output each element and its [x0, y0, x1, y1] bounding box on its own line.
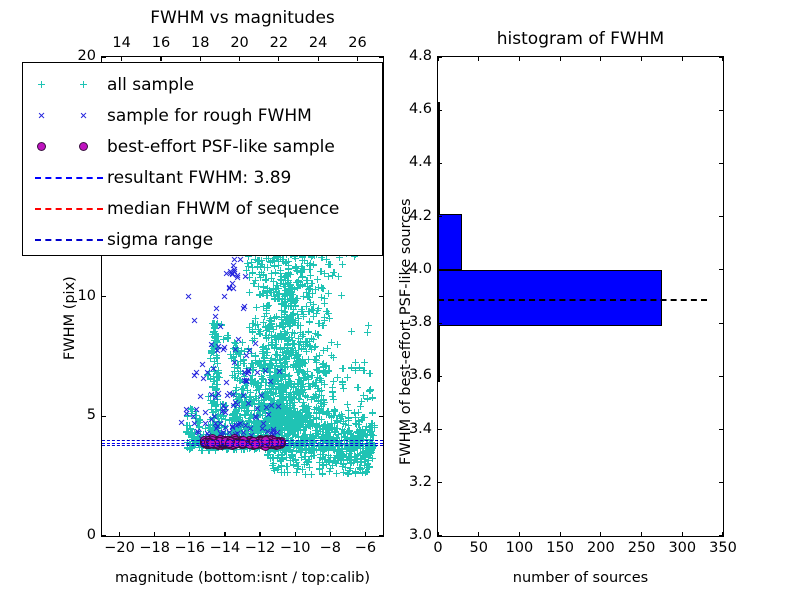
- right-ytick-right: [719, 323, 723, 324]
- right-ytick: [438, 323, 442, 324]
- right-ytick: [438, 163, 442, 164]
- legend-label: all sample: [107, 75, 194, 95]
- right-ytick-right: [719, 216, 723, 217]
- right-xtick-top: [641, 57, 642, 61]
- right-ytick: [438, 269, 442, 270]
- cross-marker-icon: [80, 112, 87, 119]
- right-ytick-right: [719, 269, 723, 270]
- right-yticklabel: 4.0: [0, 261, 432, 277]
- legend-marker: [31, 198, 107, 220]
- right-xtick-top: [600, 57, 601, 61]
- legend-item: best-effort PSF-like sample: [31, 131, 372, 162]
- cross-marker-icon: [38, 112, 45, 119]
- plus-marker-icon: [38, 81, 45, 88]
- legend-item: median FHWM of sequence: [31, 193, 372, 224]
- right-yticklabel: 3.4: [0, 421, 432, 437]
- legend-marker: [31, 105, 107, 127]
- legend-marker: [31, 74, 107, 96]
- right-ytick-right: [719, 482, 723, 483]
- legend-label: median FHWM of sequence: [107, 199, 339, 219]
- right-xtick-top: [519, 57, 520, 61]
- right-ytick-right: [719, 429, 723, 430]
- right-ytick-right: [719, 56, 723, 57]
- right-ytick-right: [719, 163, 723, 164]
- legend-marker: [31, 167, 107, 189]
- right-ytick: [438, 216, 442, 217]
- right-ytick: [438, 535, 442, 536]
- right-yticklabel: 3.6: [0, 367, 432, 383]
- dashed-line-icon: [35, 208, 103, 210]
- legend-item: resultant FWHM: 3.89: [31, 162, 372, 193]
- right-xtick: [600, 532, 601, 536]
- right-ytick: [438, 110, 442, 111]
- right-xtick: [519, 532, 520, 536]
- right-ytick: [438, 429, 442, 430]
- right-ytick: [438, 56, 442, 57]
- right-ytick-right: [719, 376, 723, 377]
- right-yticklabel: 3.8: [0, 314, 432, 330]
- right-xticklabel: 350: [693, 540, 753, 556]
- right-yticklabel: 3.0: [0, 527, 432, 543]
- dashed-line-icon: [35, 177, 103, 179]
- right-xtick-top: [722, 57, 723, 61]
- legend-item: sample for rough FWHM: [31, 100, 372, 131]
- legend-label: best-effort PSF-like sample: [107, 137, 335, 157]
- right-yticklabel: 3.2: [0, 474, 432, 490]
- legend-label: sample for rough FWHM: [107, 106, 312, 126]
- right-xtick-top: [437, 57, 438, 61]
- right-xtick-top: [560, 57, 561, 61]
- right-xtick: [641, 532, 642, 536]
- legend-marker: [31, 136, 107, 158]
- legend-marker: [31, 229, 107, 251]
- legend-label: sigma range: [107, 230, 213, 250]
- dashdot-line-icon: [35, 239, 103, 241]
- right-ytick-right: [719, 535, 723, 536]
- right-xtick: [682, 532, 683, 536]
- right-xtick: [478, 532, 479, 536]
- legend-label: resultant FWHM: 3.89: [107, 168, 291, 188]
- legend-item: sigma range: [31, 224, 372, 255]
- right-ytick: [438, 376, 442, 377]
- right-xtick-top: [682, 57, 683, 61]
- right-xtick-top: [478, 57, 479, 61]
- plus-marker-icon: [80, 81, 87, 88]
- right-ytick-right: [719, 110, 723, 111]
- right-ytick: [438, 482, 442, 483]
- plot-legend: all samplesample for rough FWHMbest-effo…: [22, 62, 383, 256]
- dot-marker-icon: [38, 143, 45, 150]
- right-xtick: [560, 532, 561, 536]
- dot-marker-icon: [80, 143, 87, 150]
- figure-canvas: FWHM vs magnitudes FWHM (pix) magnitude …: [0, 0, 800, 600]
- legend-item: all sample: [31, 69, 372, 100]
